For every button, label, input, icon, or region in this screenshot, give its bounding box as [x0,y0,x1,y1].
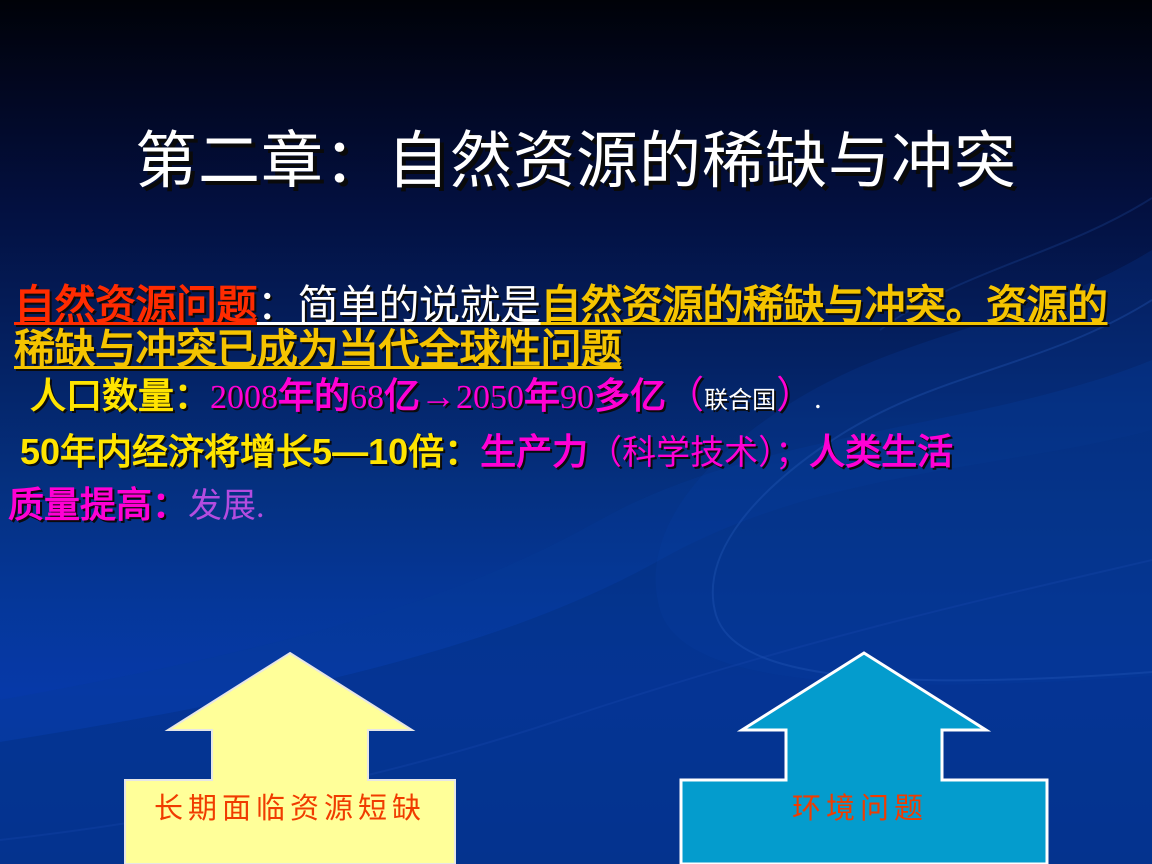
right-arrow-shape [660,640,1060,864]
paren-open: （ [666,375,704,417]
population-source: 联合国 [704,388,776,414]
slide-canvas: 第二章：自然资源的稀缺与冲突 自然资源问题：简单的说就是自然资源的稀缺与冲突。资… [0,0,1152,864]
science-tech-note: （科学技术） [588,435,775,472]
definition-connector: ：简单的说就是 [257,282,541,328]
right-arrow-label: 环境问题 [660,785,1060,827]
population-unit-1: 亿 [384,375,420,416]
slide-title: 第二章：自然资源的稀缺与冲突 [0,130,1152,195]
paren-close: ） [776,375,814,417]
population-year-2008: 2008 [210,379,278,416]
slide-body: 自然资源问题：简单的说就是自然资源的稀缺与冲突。资源的稀缺与冲突已成为当代全球性… [0,283,1152,532]
left-arrow-shape [100,640,480,864]
population-90: 90 [560,379,594,416]
economy-label: 50年内经济将增长5—10倍： [20,431,480,472]
left-arrow-label: 长期面临资源短缺 [100,785,480,827]
left-arrow-callout[interactable]: 长期面临资源短缺 [100,640,480,864]
population-year-label: 年 [524,375,560,416]
population-of-label: 年的 [278,375,350,416]
right-arrow-icon: → [420,375,456,416]
population-year-2050: 2050 [456,379,524,416]
line-population: 人口数量：2008年的68亿→2050年90多亿（联合国）. [0,371,1152,426]
human-life-label: 人类生活 [809,431,953,472]
quality-value: 发展. [188,488,265,525]
population-68: 68 [350,379,384,416]
right-arrow-callout[interactable]: 环境问题 [660,640,1060,864]
period-mark-1: . [814,382,822,415]
definition-term: 自然资源问题 [14,282,257,328]
productivity-label: 生产力 [480,431,588,472]
population-unit-2: 多亿 [594,375,666,416]
population-label: 人口数量： [30,375,210,416]
quality-label: 质量提高： [8,484,188,525]
line-quality: 质量提高：发展. [0,480,1152,532]
paragraph-definition: 自然资源问题：简单的说就是自然资源的稀缺与冲突。资源的稀缺与冲突已成为当代全球性… [0,283,1152,371]
semicolon-mark: ； [775,435,809,472]
line-economy: 50年内经济将增长5—10倍：生产力（科学技术）；人类生活 [0,426,1152,480]
